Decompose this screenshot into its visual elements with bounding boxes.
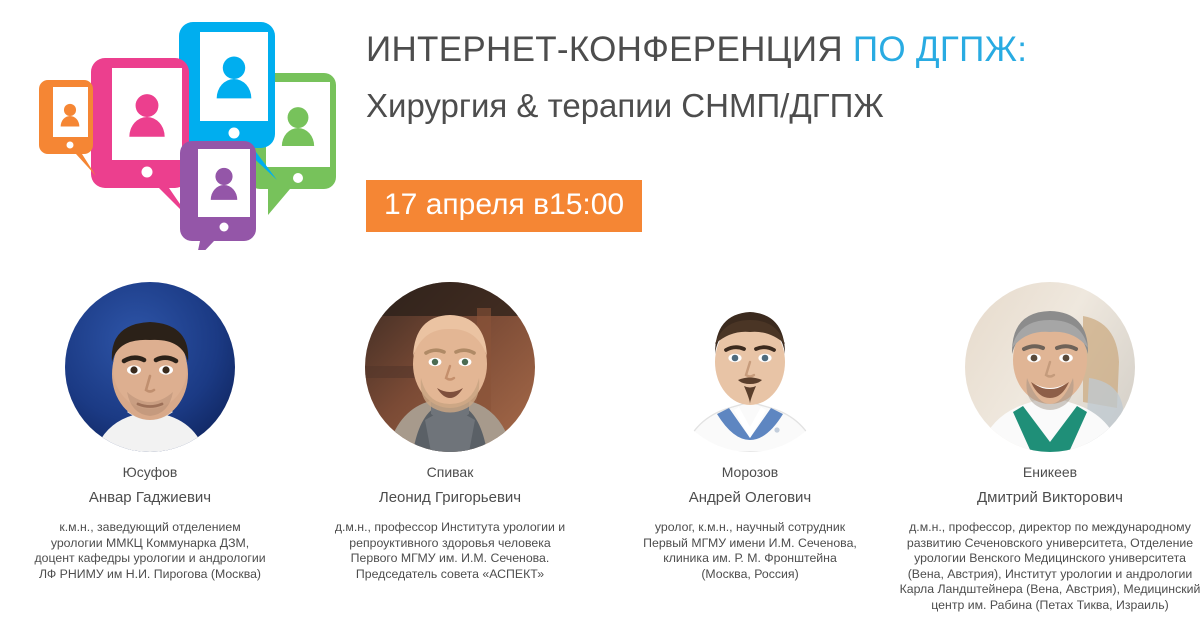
bubble-pink-icon xyxy=(91,58,191,220)
speaker-card: Спивак Леонид Григорьевич д.м.н., профес… xyxy=(300,282,600,582)
speaker-bio: уролог, к.м.н., научный сотрудник Первый… xyxy=(600,520,900,582)
speakers-row: Юсуфов Анвар Гаджиевич к.м.н., заведующи… xyxy=(0,282,1200,613)
page-title: ИНТЕРНЕТ-КОНФЕРЕНЦИЯ ПО ДГПЖ: xyxy=(366,28,1186,72)
speaker-bio: д.м.н., профессор Института урологии и р… xyxy=(300,520,600,582)
conference-logo xyxy=(28,18,338,250)
speaker-given-name: Анвар Гаджиевич xyxy=(89,488,211,508)
speaker-card: Еникеев Дмитрий Викторович д.м.н., профе… xyxy=(900,282,1200,613)
avatar xyxy=(965,282,1135,452)
speaker-bio: д.м.н., профессор, директор по междунаро… xyxy=(880,520,1200,613)
speaker-bio: к.м.н., заведующий отделением урологии М… xyxy=(0,520,300,582)
bubble-purple-icon xyxy=(180,141,256,250)
page-subtitle: Хирургия & терапии СНМП/ДГПЖ xyxy=(366,84,1186,128)
speaker-given-name: Леонид Григорьевич xyxy=(379,488,521,508)
speaker-given-name: Дмитрий Викторович xyxy=(977,488,1123,508)
speaker-surname: Еникеев xyxy=(1023,462,1077,482)
bubble-orange-icon xyxy=(39,80,96,176)
speaker-surname: Спивак xyxy=(427,462,474,482)
avatar xyxy=(65,282,235,452)
speaker-card: Юсуфов Анвар Гаджиевич к.м.н., заведующи… xyxy=(0,282,300,582)
date-badge: 17 апреля в15:00 xyxy=(366,180,642,232)
title-accent-text: ПО ДГПЖ: xyxy=(853,30,1027,69)
header: ИНТЕРНЕТ-КОНФЕРЕНЦИЯ ПО ДГПЖ: Хирургия &… xyxy=(366,28,1186,128)
speaker-surname: Морозов xyxy=(722,462,779,482)
speaker-card: Морозов Андрей Олегович уролог, к.м.н., … xyxy=(600,282,900,582)
avatar xyxy=(365,282,535,452)
speaker-surname: Юсуфов xyxy=(123,462,178,482)
avatar xyxy=(665,282,835,452)
title-main-text: ИНТЕРНЕТ-КОНФЕРЕНЦИЯ xyxy=(366,30,853,69)
speaker-given-name: Андрей Олегович xyxy=(689,488,812,508)
